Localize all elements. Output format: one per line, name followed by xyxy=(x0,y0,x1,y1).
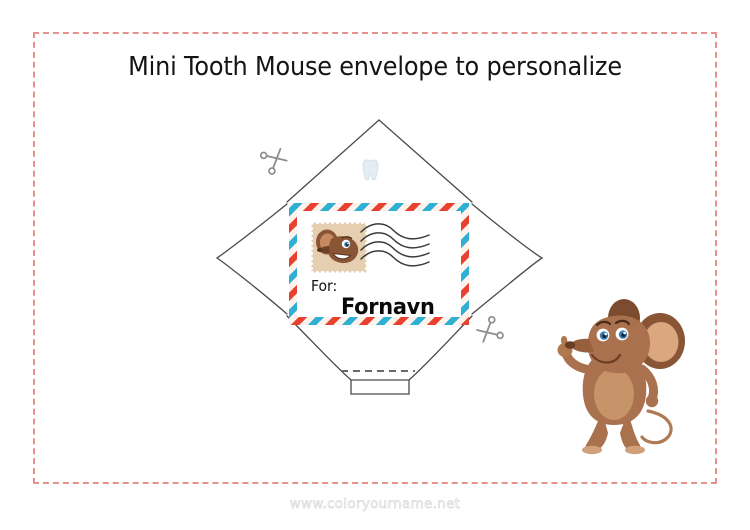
mascot-right-hand xyxy=(646,395,658,407)
mascot-left-foot xyxy=(582,446,602,454)
airmail-letter: For: Fornavn xyxy=(289,203,469,325)
page-title: Mini Tooth Mouse envelope to personalize xyxy=(23,52,728,82)
recipient-name: Fornavn xyxy=(341,295,435,320)
for-label: For: xyxy=(311,277,337,295)
airmail-letter-face: For: Fornavn xyxy=(297,211,461,317)
scissors-icon-top-left xyxy=(260,144,289,175)
mascot-tail xyxy=(642,411,671,443)
mascot-nose xyxy=(565,341,575,349)
site-watermark: www.coloryourname.net xyxy=(0,496,750,512)
mascot-illustration xyxy=(556,293,704,465)
printable-page: Mini Tooth Mouse envelope to personalize xyxy=(0,0,750,530)
flap-top-right-edge xyxy=(379,120,472,202)
flap-right-edge xyxy=(472,204,542,314)
scissors-icon-bottom-right xyxy=(475,316,504,347)
mascot-belly xyxy=(594,368,634,420)
postmark-waves xyxy=(359,220,433,270)
flap-left-edge xyxy=(217,204,287,314)
flap-bottom-tab xyxy=(351,380,409,394)
tooth-icon xyxy=(363,160,378,180)
mascot-right-foot xyxy=(625,446,645,454)
tooth-mouse-mascot xyxy=(556,293,704,465)
